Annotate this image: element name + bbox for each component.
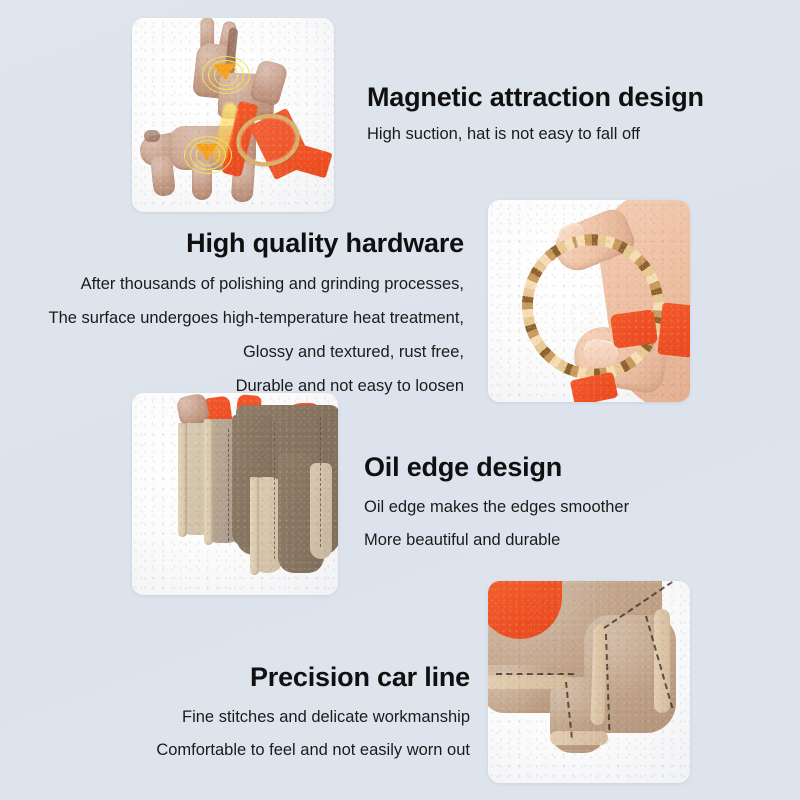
photo-high-quality-hardware: [488, 200, 690, 402]
oil-edge-3: [250, 477, 259, 575]
oil-edge-2: [204, 419, 213, 545]
feature-line: Oil edge makes the edges smoother: [364, 498, 629, 516]
feature-heading: Precision car line: [156, 662, 470, 693]
feature-line: High suction, hat is not easy to fall of…: [367, 125, 704, 143]
feature-line: After thousands of polishing and grindin…: [49, 275, 465, 293]
leg-rear-edge: [310, 463, 332, 559]
feature-heading: Magnetic attraction design: [367, 82, 704, 113]
feature-heading: Oil edge design: [364, 452, 629, 483]
stitch-line: [496, 673, 574, 675]
photo-precision-car-line: [488, 581, 690, 783]
stitch-line: [274, 423, 275, 559]
feature-line: The surface undergoes high-temperature h…: [49, 309, 465, 327]
macro-oil-edge-4: [550, 731, 608, 745]
oil-edge-1: [178, 423, 187, 537]
feature-line: Glossy and textured, rust free,: [49, 343, 465, 361]
infographic-page: Magnetic attraction design High suction,…: [0, 0, 800, 800]
feature-text-magnetic-attraction: Magnetic attraction design High suction,…: [367, 82, 704, 143]
photo-oil-edge-design: [132, 393, 338, 595]
photo-magnetic-attraction: [132, 18, 334, 212]
macro-oil-edge-3: [488, 675, 570, 689]
feature-heading: High quality hardware: [49, 228, 465, 259]
feature-text-precision-car-line: Precision car line Fine stitches and del…: [156, 662, 470, 759]
red-leather-strap-2: [657, 302, 690, 357]
stitch-line: [320, 417, 321, 547]
stitch-line: [228, 429, 229, 541]
feature-line: Comfortable to feel and not easily worn …: [156, 741, 470, 759]
feature-text-high-quality-hardware: High quality hardware After thousands of…: [49, 228, 465, 396]
feature-text-oil-edge-design: Oil edge design Oil edge makes the edges…: [364, 452, 629, 549]
feature-line: Fine stitches and delicate workmanship: [156, 708, 470, 726]
ring-gap: [570, 304, 594, 330]
feature-line: More beautiful and durable: [364, 531, 629, 549]
red-leather-strap: [610, 309, 658, 349]
